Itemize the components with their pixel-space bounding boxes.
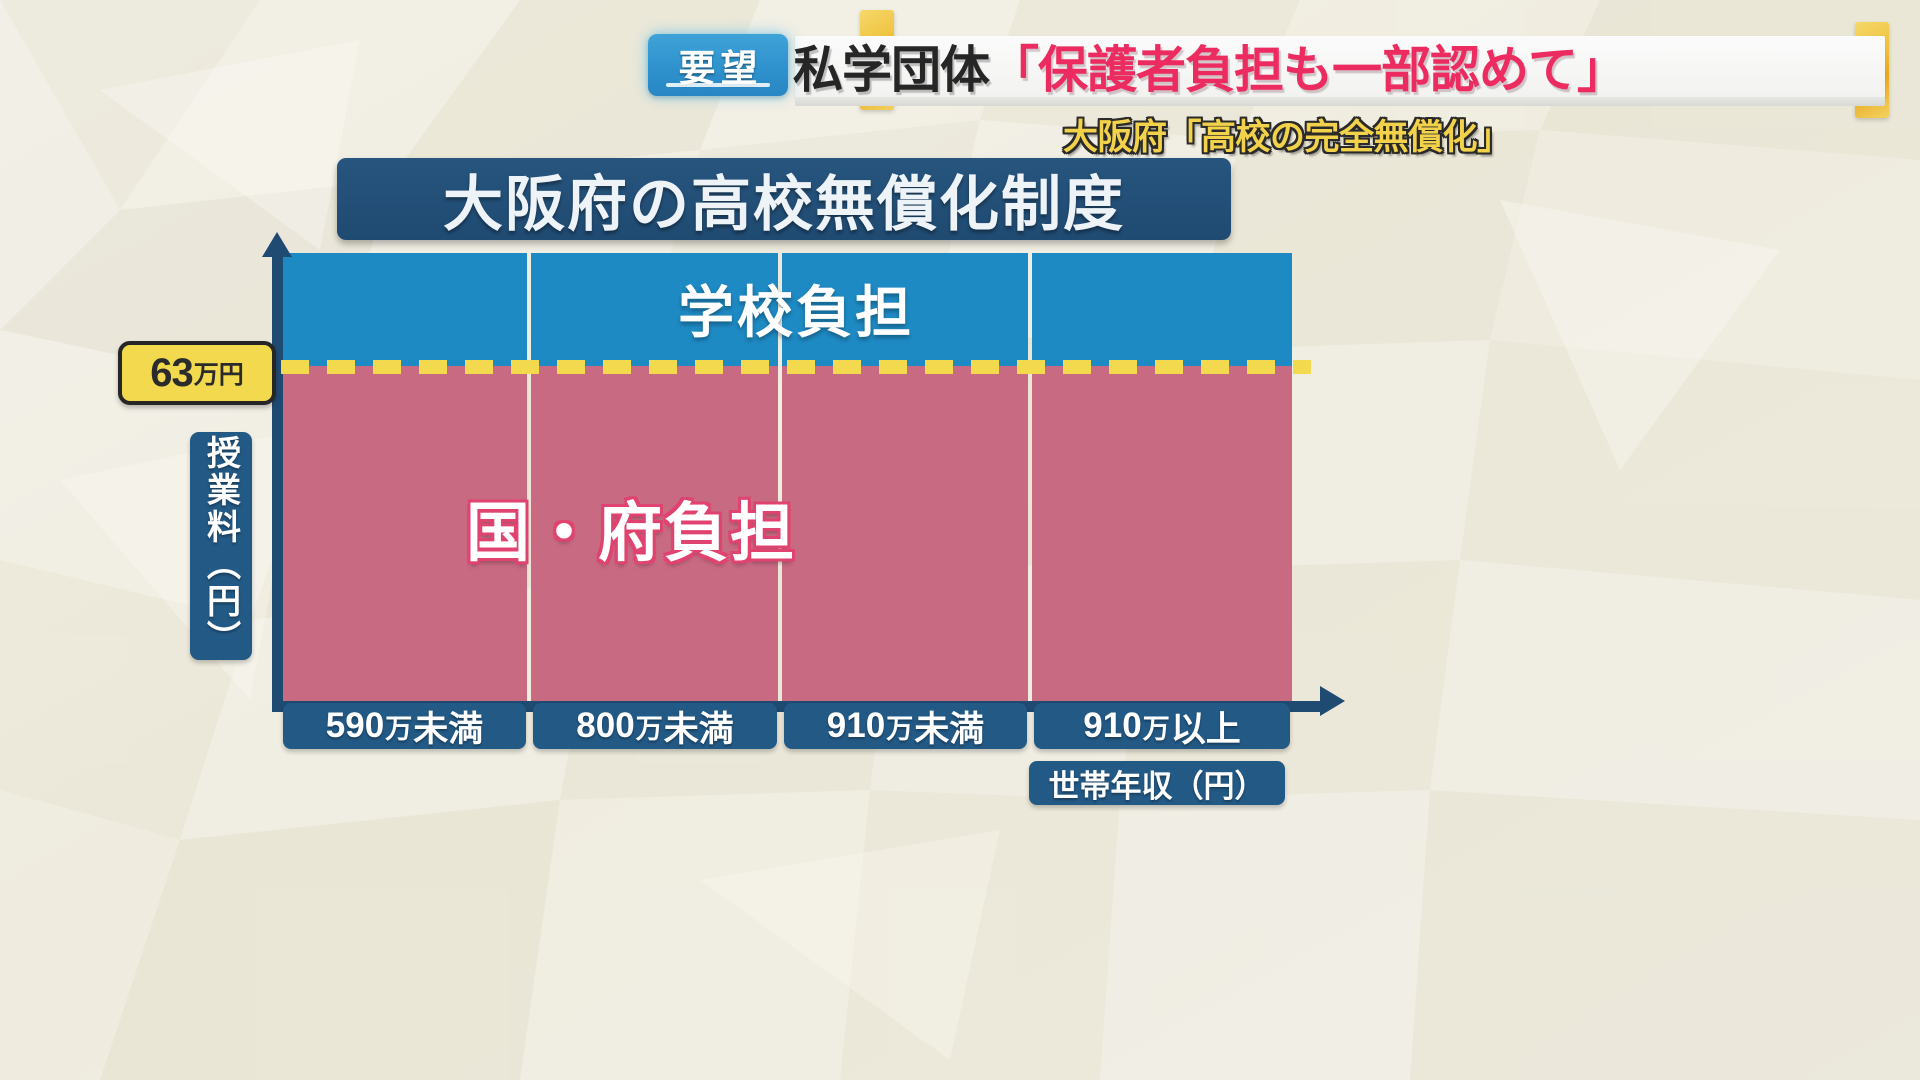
government-burden-band <box>1032 366 1292 703</box>
x-category-number: 910 <box>1083 706 1141 746</box>
x-category-number: 910 <box>827 706 885 746</box>
x-category-chip: 590 万 未満 <box>283 703 526 749</box>
x-category-unit: 万 <box>636 707 663 746</box>
government-burden-caption: 国・府負担 <box>281 482 981 574</box>
x-category-chip: 800 万 未満 <box>533 703 777 749</box>
x-category-unit: 万 <box>1143 707 1170 746</box>
threshold-value-badge: 63 万円 <box>118 341 276 405</box>
headline-quote: 「保護者負担も一部認めて」 <box>989 30 1626 102</box>
y-axis-caption: 授業料（円） <box>190 432 252 660</box>
threshold-dashed-line <box>281 360 1311 374</box>
government-burden-label: 国・府負担 <box>466 497 796 569</box>
threshold-number: 63 <box>150 351 193 396</box>
y-axis-caption-label: 授業料（円） <box>197 435 246 657</box>
x-category-qualifier: 未満 <box>413 701 483 752</box>
category-badge: 要望 <box>648 34 788 96</box>
header-bar: 要望 私学団体 「保護者負担も一部認めて」 大阪府「高校の完全無償化」 <box>0 0 1920 170</box>
x-axis-arrow-icon <box>1320 686 1345 716</box>
x-category-qualifier: 未満 <box>664 701 734 752</box>
x-category-number: 800 <box>576 706 634 746</box>
headline: 私学団体 「保護者負担も一部認めて」 <box>793 30 1626 102</box>
x-category-chip: 910 万 以上 <box>1034 703 1290 749</box>
subheadline: 大阪府「高校の完全無償化」 <box>1063 112 1512 156</box>
x-category-qualifier: 未満 <box>914 701 984 752</box>
x-axis-caption-label: 世帯年収（円） <box>1049 761 1266 806</box>
chart-title-banner: 大阪府の高校無償化制度 <box>337 158 1231 240</box>
threshold-unit: 万円 <box>194 355 244 391</box>
x-axis-caption: 世帯年収（円） <box>1029 761 1285 805</box>
x-category-unit: 万 <box>385 707 412 746</box>
school-burden-label: 学校負担 <box>678 281 914 344</box>
x-category-chip: 910 万 未満 <box>784 703 1027 749</box>
chart-title-label: 大阪府の高校無償化制度 <box>443 156 1125 243</box>
headline-subject: 私学団体 <box>793 30 989 102</box>
x-category-qualifier: 以上 <box>1171 701 1241 752</box>
school-burden-caption: 学校負担 <box>281 268 1311 349</box>
x-category-unit: 万 <box>886 707 913 746</box>
category-badge-underline <box>666 83 770 87</box>
y-axis-arrow-icon <box>262 232 292 257</box>
x-category-number: 590 <box>326 706 384 746</box>
subheadline-label: 大阪府「高校の完全無償化」 <box>1063 109 1512 160</box>
